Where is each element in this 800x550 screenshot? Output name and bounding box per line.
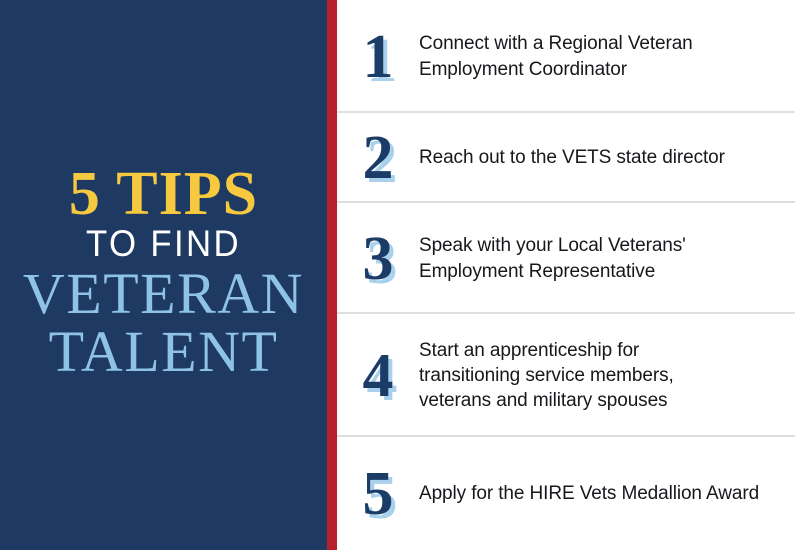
tip-number-3: 3 (349, 228, 407, 290)
tip-text-1: Connect with a Regional Veteran Employme… (407, 31, 792, 82)
tip-number-2: 2 (349, 127, 407, 189)
tip-text-line: veterans and military spouses (419, 388, 792, 413)
tip-item-2: 2 Reach out to the VETS state director (337, 113, 800, 203)
title-line-veteran: VETERAN (0, 266, 327, 323)
tip-text-line: Employment Coordinator (419, 57, 792, 82)
tip-number-4: 4 (349, 345, 407, 407)
tip-item-4: 4 Start an apprenticeship for transition… (337, 314, 800, 437)
tip-item-3: 3 Speak with your Local Veterans' Employ… (337, 203, 800, 314)
title-block: 5 TIPS TO FIND VETERAN TALENT (0, 166, 327, 381)
title-panel: 5 TIPS TO FIND VETERAN TALENT (0, 0, 327, 550)
tip-text-line: Employment Representative (419, 259, 792, 284)
tip-text-line: Speak with your Local Veterans' (419, 233, 792, 258)
tip-item-1: 1 Connect with a Regional Veteran Employ… (337, 0, 800, 113)
tip-number-5: 5 (349, 463, 407, 525)
tip-text-4: Start an apprenticeship for transitionin… (407, 338, 792, 414)
tip-text-line: transitioning service members, (419, 363, 792, 388)
title-line-talent: TALENT (0, 324, 327, 381)
title-line-tips-count: 5 TIPS (0, 166, 327, 223)
tip-text-line: Connect with a Regional Veteran (419, 31, 792, 56)
infographic-root: 5 TIPS TO FIND VETERAN TALENT 1 Connect … (0, 0, 800, 550)
tip-text-3: Speak with your Local Veterans' Employme… (407, 233, 792, 284)
tip-text-5: Apply for the HIRE Vets Medallion Award (407, 481, 792, 506)
tip-item-5: 5 Apply for the HIRE Vets Medallion Awar… (337, 437, 800, 550)
red-accent-stripe (327, 0, 337, 550)
tip-text-line: Start an apprenticeship for (419, 338, 792, 363)
tip-text-line: Apply for the HIRE Vets Medallion Award (419, 481, 792, 506)
title-line-to-find: TO FIND (10, 225, 317, 262)
tip-number-1: 1 (349, 26, 407, 88)
tip-text-line: Reach out to the VETS state director (419, 145, 792, 170)
tip-text-2: Reach out to the VETS state director (407, 145, 792, 170)
tips-list: 1 Connect with a Regional Veteran Employ… (337, 0, 800, 550)
